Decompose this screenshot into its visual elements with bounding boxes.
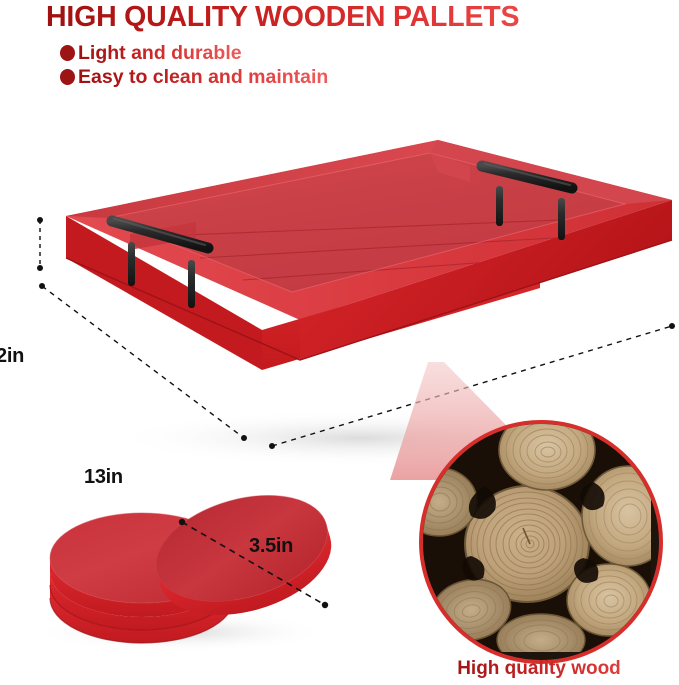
dimension-label-height: 2in	[0, 345, 24, 368]
wood-caption-label: High quality wood	[419, 658, 659, 680]
handle-post-left-a	[128, 242, 135, 286]
wood-texture	[423, 424, 651, 652]
page-title: HIGH QUALITY WOODEN PALLETS	[46, 1, 646, 33]
wood-detail-circle	[419, 420, 663, 664]
coaster-product-scene	[30, 480, 380, 660]
bullet-dot-icon	[60, 69, 75, 85]
handle-post-right-a	[496, 186, 503, 226]
handle-post-right-b	[558, 198, 565, 240]
coaster-illustration	[30, 480, 380, 660]
wood-zoom-callout: High quality wood	[419, 420, 659, 660]
dim-dot	[179, 519, 185, 525]
infographic-canvas: HIGH QUALITY WOODEN PALLETS Light and du…	[0, 0, 679, 685]
header-block: HIGH QUALITY WOODEN PALLETS Light and du…	[0, 0, 679, 108]
bullet-dot-icon	[60, 45, 75, 61]
feature-bullet-label: Easy to clean and maintain	[78, 65, 328, 89]
dim-dot	[37, 265, 43, 271]
dim-dot	[241, 435, 247, 441]
feature-bullet-1: Easy to clean and maintain	[60, 64, 328, 89]
dim-dot	[39, 283, 45, 289]
dim-dot	[669, 323, 675, 329]
dim-dot	[322, 602, 328, 608]
tray-body	[66, 140, 672, 370]
feature-bullet-label: Light and durable	[78, 41, 242, 65]
feature-bullet-0: Light and durable	[60, 40, 242, 65]
dim-dot	[269, 443, 275, 449]
dim-dot	[37, 217, 43, 223]
dimension-label-coaster-diameter: 3.5in	[249, 535, 293, 558]
handle-post-left-b	[188, 260, 195, 308]
